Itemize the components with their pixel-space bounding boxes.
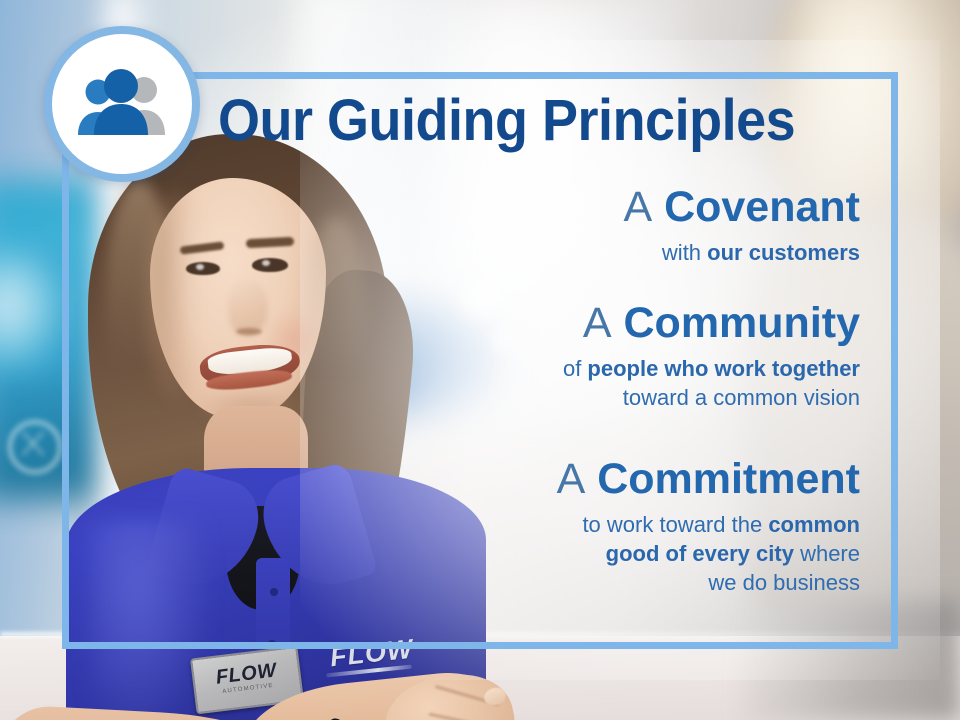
principle-1-heading: A Covenant	[160, 186, 860, 230]
principle-3-sub-line2-plain: where	[794, 541, 860, 566]
principle-1-lead: A	[623, 183, 652, 231]
page-title: Our Guiding Principles	[218, 92, 869, 150]
principle-2-subtext: of people who work together toward a com…	[160, 354, 860, 412]
principle-2-sub-line1-bold: people who work together	[587, 356, 860, 381]
principle-1-keyword: Covenant	[664, 183, 860, 231]
principle-3-heading: A Commitment	[160, 458, 860, 502]
principle-3-sub-line3: we do business	[708, 570, 860, 595]
principle-2-lead: A	[583, 299, 612, 347]
principle-commitment: A Commitment to work toward the common g…	[160, 458, 860, 597]
people-group-icon	[74, 68, 170, 140]
principle-3-keyword: Commitment	[597, 455, 860, 503]
people-badge: Three people group icon	[44, 26, 200, 182]
principle-3-sub-line1-bold: common	[768, 512, 860, 537]
principle-3-lead: A	[557, 455, 586, 503]
principle-1-subtext: with our customers	[160, 238, 860, 267]
principle-1-sub-bold: our customers	[707, 240, 860, 265]
principle-3-sub-line2-bold: good of every city	[606, 541, 794, 566]
principle-2-keyword: Community	[624, 299, 861, 347]
principle-3-subtext: to work toward the common good of every …	[160, 510, 860, 597]
principle-2-sub-line2: toward a common vision	[623, 385, 860, 410]
principle-3-sub-line1-plain: to work toward the	[582, 512, 768, 537]
principle-community: A Community of people who work together …	[160, 302, 860, 412]
polo-button-bottom	[268, 640, 276, 648]
principle-covenant: A Covenant with our customers	[160, 186, 860, 267]
desk-shadow	[740, 600, 960, 720]
promo-graphic: FLOW FLOW AUTOMOTIVE	[0, 0, 960, 720]
principle-2-heading: A Community	[160, 302, 860, 346]
principle-2-sub-line1-plain: of	[563, 356, 587, 381]
principle-1-sub-plain: with	[662, 240, 707, 265]
